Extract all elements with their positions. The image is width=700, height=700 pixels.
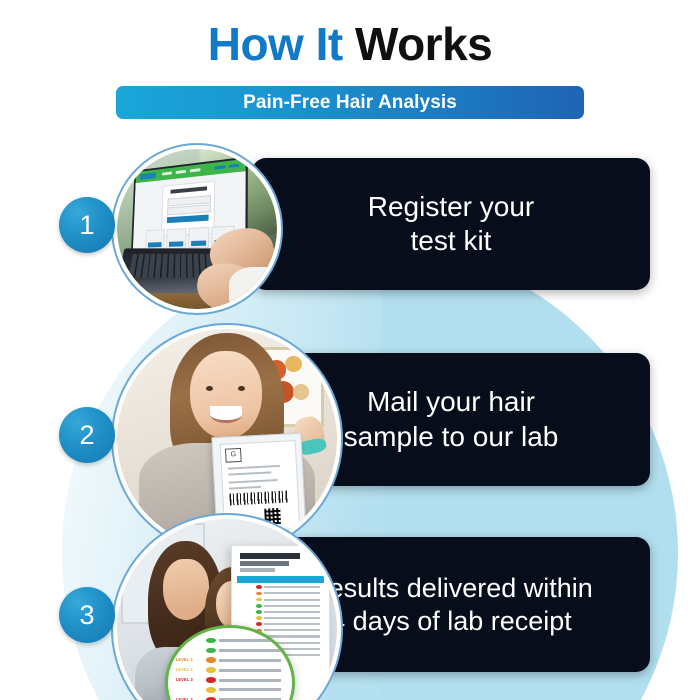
item-name bbox=[264, 629, 320, 631]
wall-art-shape bbox=[293, 384, 309, 400]
label-line bbox=[229, 485, 262, 489]
step-text-1: Register your test kit bbox=[354, 190, 549, 258]
report-row bbox=[237, 622, 324, 627]
wall-art-shape bbox=[285, 356, 302, 372]
item-name bbox=[219, 669, 281, 672]
step-photo-1-inner bbox=[117, 149, 277, 309]
label-line bbox=[228, 471, 271, 475]
label-line bbox=[228, 464, 280, 469]
step-number-1: 1 bbox=[79, 212, 94, 239]
sleeve bbox=[229, 267, 277, 309]
item-name bbox=[219, 639, 281, 642]
report-row bbox=[237, 585, 324, 590]
nav-item bbox=[228, 164, 239, 168]
zoom-row bbox=[176, 636, 284, 644]
step-photo-3: LEVEL 2 LEVEL 2 LEVEL 3 bbox=[113, 515, 341, 700]
item-name bbox=[264, 592, 320, 594]
feature-tile bbox=[145, 230, 165, 250]
step-text-2: Mail your hair sample to our lab bbox=[330, 385, 573, 453]
zoom-row: LEVEL 2 bbox=[176, 656, 284, 664]
page-title-plain: Works bbox=[355, 18, 492, 70]
eye bbox=[206, 386, 213, 391]
label-line bbox=[228, 478, 277, 483]
level-dot bbox=[256, 616, 262, 620]
level-dot bbox=[256, 610, 262, 614]
report-row bbox=[237, 616, 324, 621]
level-dot bbox=[256, 585, 262, 589]
item-name bbox=[264, 605, 320, 607]
report-row bbox=[237, 603, 324, 608]
report-title bbox=[240, 553, 300, 559]
step-badge-2: 2 bbox=[59, 407, 115, 463]
feature-tile-button bbox=[169, 242, 183, 247]
level-dot bbox=[206, 687, 216, 693]
eye bbox=[238, 386, 245, 391]
step-row-2: Mail your hair sample to our lab bbox=[0, 325, 700, 547]
page-title: How It Works bbox=[0, 0, 700, 68]
zoom-row: LEVEL 3 bbox=[176, 676, 284, 684]
zoom-row: LEVEL 2 bbox=[176, 666, 284, 674]
report-table-header bbox=[237, 576, 324, 583]
level-dot bbox=[256, 622, 262, 626]
registration-submit-button bbox=[167, 214, 208, 223]
barcode-icon bbox=[229, 490, 289, 505]
registration-card-title bbox=[170, 187, 207, 195]
item-name bbox=[219, 649, 281, 652]
carrier-code: G bbox=[225, 447, 241, 462]
level-dot bbox=[256, 598, 262, 602]
item-name bbox=[264, 611, 320, 613]
report-row bbox=[237, 591, 324, 596]
step-photo-3-inner: LEVEL 2 LEVEL 2 LEVEL 3 bbox=[117, 519, 337, 700]
item-name bbox=[264, 586, 320, 588]
step-badge-3: 3 bbox=[59, 587, 115, 643]
report-row bbox=[237, 597, 324, 602]
level-label: LEVEL 2 bbox=[176, 656, 204, 664]
item-name bbox=[219, 659, 281, 662]
feature-tile-button bbox=[148, 242, 162, 247]
feature-tile bbox=[165, 229, 186, 250]
zoom-row bbox=[176, 686, 284, 694]
scene-family-results: LEVEL 2 LEVEL 2 LEVEL 3 bbox=[117, 519, 337, 700]
level-label: LEVEL 2 bbox=[176, 666, 204, 674]
item-name bbox=[264, 599, 320, 601]
level-dot bbox=[206, 677, 216, 683]
level-label: LEVEL 4 bbox=[176, 696, 204, 700]
page-title-accent: How It bbox=[208, 18, 343, 70]
site-logo-icon bbox=[139, 172, 155, 179]
item-name bbox=[264, 617, 320, 619]
zoom-row: LEVEL 4 bbox=[176, 696, 284, 700]
step-number-3: 3 bbox=[79, 602, 94, 629]
feature-tile-button bbox=[191, 241, 206, 246]
report-row bbox=[237, 610, 324, 615]
level-dot bbox=[256, 604, 262, 608]
item-name bbox=[264, 623, 320, 625]
step-number-2: 2 bbox=[79, 422, 94, 449]
level-label: LEVEL 3 bbox=[176, 676, 204, 684]
step-text-3: Results delivered within 4 days of lab r… bbox=[295, 572, 607, 638]
nav-item bbox=[189, 168, 200, 172]
infographic-page: How It Works Pain-Free Hair Analysis Reg… bbox=[0, 0, 700, 700]
item-name bbox=[219, 688, 281, 691]
level-dot bbox=[206, 648, 216, 654]
step-badge-1: 1 bbox=[59, 197, 115, 253]
smile bbox=[210, 406, 242, 423]
subtitle-banner: Pain-Free Hair Analysis bbox=[116, 86, 584, 119]
header: How It Works bbox=[0, 0, 700, 68]
report-subtitle bbox=[240, 561, 288, 566]
results-zoom-callout: LEVEL 2 LEVEL 2 LEVEL 3 bbox=[165, 625, 294, 700]
subtitle-text: Pain-Free Hair Analysis bbox=[243, 92, 457, 114]
report-date bbox=[240, 568, 275, 572]
scene-laptop-registration bbox=[117, 149, 277, 309]
zoom-row bbox=[176, 646, 284, 654]
nav-item bbox=[162, 172, 173, 176]
nav-item bbox=[214, 166, 225, 170]
item-name bbox=[219, 679, 281, 682]
level-dot bbox=[206, 638, 216, 644]
step-panel-1: Register your test kit bbox=[252, 158, 650, 290]
level-dot bbox=[256, 592, 262, 596]
step-photo-1 bbox=[113, 145, 281, 313]
step-row-3: Results delivered within 4 days of lab r… bbox=[0, 515, 700, 700]
feature-tile bbox=[187, 228, 209, 249]
step-row-1: Register your test kit bbox=[0, 145, 700, 310]
level-dot bbox=[206, 657, 216, 663]
nav-item bbox=[175, 170, 186, 174]
woman-face bbox=[190, 351, 263, 439]
level-dot bbox=[206, 667, 216, 673]
